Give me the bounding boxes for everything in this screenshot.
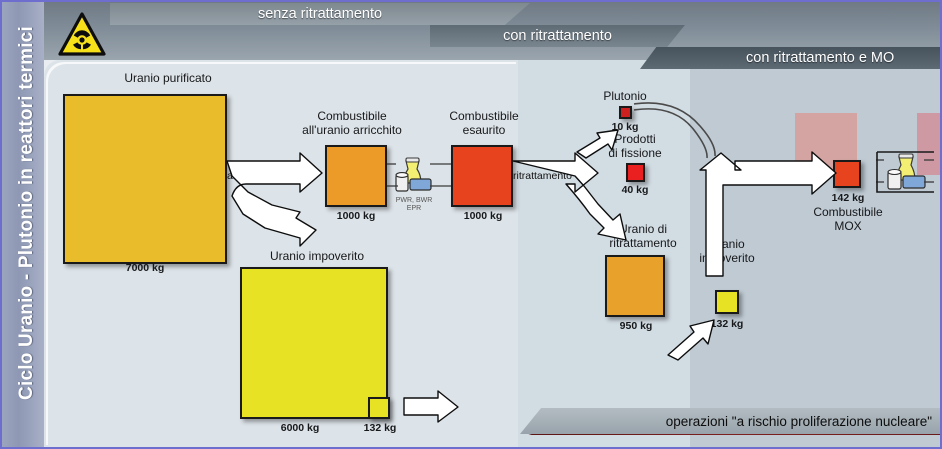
window-frame (0, 0, 942, 449)
diagram-canvas: senza ritrattamento con ritrattamento co… (0, 0, 942, 449)
